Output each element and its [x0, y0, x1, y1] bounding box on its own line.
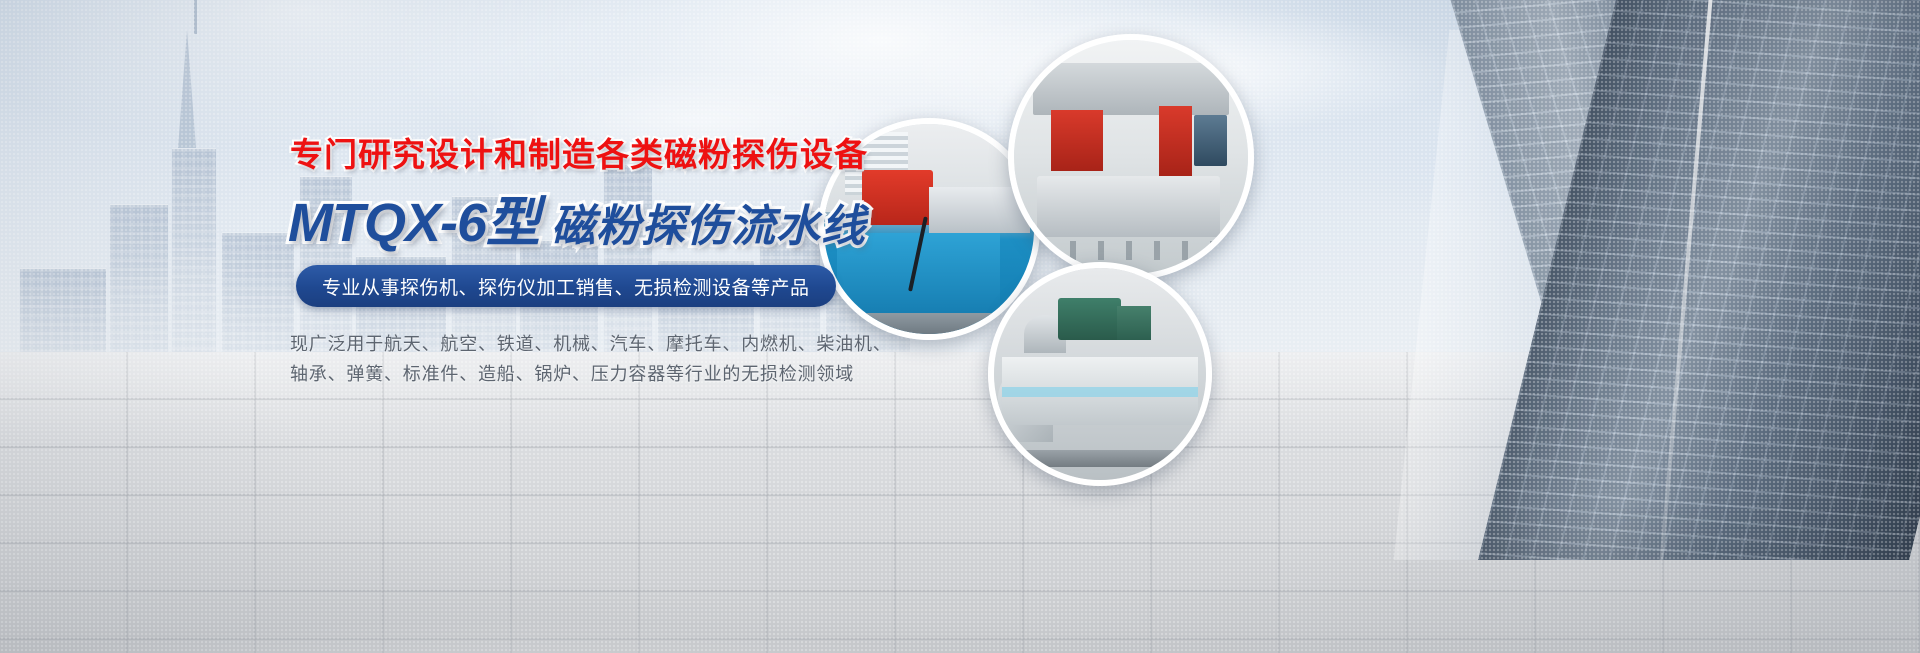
photo-circle-production-line [988, 262, 1212, 486]
banner-title: MTQX-6型磁粉探伤流水线 [288, 178, 866, 257]
banner-text-block: 专门研究设计和制造各类磁粉探伤设备 MTQX-6型磁粉探伤流水线 专业从事探伤机… [0, 0, 860, 653]
services-pill[interactable]: 专业从事探伤机、探伤仪加工销售、无损检测设备等产品 [296, 265, 836, 307]
banner-headline: 专门研究设计和制造各类磁粉探伤设备 [290, 128, 868, 176]
description-line-2: 轴承、弹簧、标准件、造船、锅炉、压力容器等行业的无损检测领域 [290, 360, 854, 386]
photo-circle-booth [1008, 34, 1254, 280]
glass-tower-group [1300, 0, 1920, 560]
promo-banner: 专门研究设计和制造各类磁粉探伤设备 MTQX-6型磁粉探伤流水线 专业从事探伤机… [0, 0, 1920, 653]
description-line-1: 现广泛用于航天、航空、铁道、机械、汽车、摩托车、内燃机、柴油机、 [290, 330, 892, 356]
product-name: 磁粉探伤流水线 [551, 202, 866, 251]
product-model: MTQX-6型 [288, 193, 539, 253]
